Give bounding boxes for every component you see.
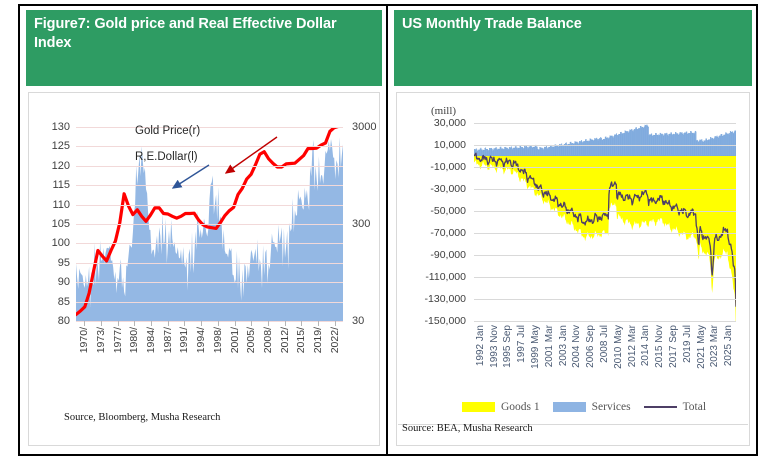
right-chart-x-tick: 1992 Jan xyxy=(475,325,486,366)
right-chart-x-tick: 2006 Sep xyxy=(585,325,596,368)
source-note-right: Source: BEA, Musha Research xyxy=(402,423,533,434)
left-chart-x-tick: 2005/ xyxy=(245,327,257,353)
panel-trade-balance: US Monthly Trade Balance (mill) 30,00010… xyxy=(388,6,756,454)
chart-container-right: (mill) 30,00010,000-10,000-30,000-50,000… xyxy=(396,92,750,446)
left-chart-y-axis-left: 13012512011511010510095908580 xyxy=(29,127,74,321)
source-note-left: Source, Bloomberg, Musha Research xyxy=(64,412,220,423)
right-chart-y-axis: 30,00010,000-10,000-30,000-50,000-70,000… xyxy=(397,123,471,321)
legend-swatch-goods xyxy=(462,402,495,412)
right-chart-y-tick: -10,000 xyxy=(430,161,466,173)
left-chart-x-tick: 2022/ xyxy=(329,327,341,353)
left-chart-x-tick: 1994/ xyxy=(195,327,207,353)
right-chart-x-tick: 1999 May xyxy=(530,325,541,369)
right-chart-x-tick: 2010 May xyxy=(613,325,624,369)
right-chart-x-tick: 1995 Sep xyxy=(502,325,513,368)
left-chart-y-tick: 100 xyxy=(52,237,70,249)
right-chart-x-tick: 2015 Nov xyxy=(654,325,665,368)
left-chart-x-tick: 1980/ xyxy=(128,327,140,353)
left-chart-y-tick: 110 xyxy=(52,199,70,211)
right-chart-x-labels: 1992 Jan1993 Nov1995 Sep1997 Jul1999 May… xyxy=(474,325,736,395)
right-chart-x-tick: 2014 Jan xyxy=(640,325,651,366)
left-chart-x-ticks xyxy=(76,321,343,326)
annotation-re-dollar: R,E.Dollar(l) xyxy=(135,151,198,163)
right-chart-x-tick: 2023 Mar xyxy=(709,325,720,367)
right-chart-x-tick: 1993 Nov xyxy=(489,325,500,368)
left-chart-x-tick: 1977/ xyxy=(112,327,124,353)
left-chart-y-tick-right: 30 xyxy=(352,315,364,327)
right-chart-x-tick: 1997 Jul xyxy=(516,325,527,363)
right-chart-x-tick: 2008 Jul xyxy=(599,325,610,363)
right-chart-legend: Goods 1 Services Total xyxy=(425,398,743,415)
left-chart-y-tick: 85 xyxy=(58,296,70,308)
figure-frame: Figure7: Gold price and Real Effective D… xyxy=(18,4,758,456)
right-chart-y-tick: -50,000 xyxy=(430,205,466,217)
left-chart-gridlines xyxy=(76,127,343,321)
right-chart-plot-area xyxy=(474,123,736,321)
left-chart-x-tick: 1987/ xyxy=(162,327,174,353)
left-chart-x-tick: 2001/ xyxy=(229,327,241,353)
left-chart-y-tick: 130 xyxy=(52,121,70,133)
right-chart-y-tick: 30,000 xyxy=(434,117,466,129)
left-chart-y-tick: 120 xyxy=(52,160,70,172)
left-chart-x-tick: 1998/ xyxy=(212,327,224,353)
right-chart-x-tick: 2003 Jan xyxy=(558,325,569,366)
left-chart-y-tick-right: 300 xyxy=(352,218,370,230)
legend-label-total: Total xyxy=(683,401,706,413)
panel-title-right: US Monthly Trade Balance xyxy=(402,15,746,34)
left-chart-y-tick: 90 xyxy=(58,276,70,288)
right-chart-y-tick: -70,000 xyxy=(430,227,466,239)
left-chart-x-tick: 1973/ xyxy=(95,327,107,353)
left-chart-y-tick: 95 xyxy=(58,257,70,269)
right-chart-x-tick: 2019 Jul xyxy=(682,325,693,363)
left-chart-x-tick: 2015/ xyxy=(295,327,307,353)
left-chart-x-tick: 1970/ xyxy=(78,327,90,353)
left-chart-x-tick: 2012/ xyxy=(279,327,291,353)
right-chart-gridlines xyxy=(474,123,736,321)
right-chart-y-tick: 10,000 xyxy=(434,139,466,151)
legend-swatch-services xyxy=(553,402,586,412)
right-chart-x-tick: 2017 Sep xyxy=(668,325,679,368)
right-chart-y-tick: -110,000 xyxy=(425,271,466,283)
left-chart-y-tick: 80 xyxy=(58,315,70,327)
left-chart-y-tick: 105 xyxy=(52,218,70,230)
legend-item-services: Services xyxy=(553,401,631,413)
right-chart-y-tick: -150,000 xyxy=(425,315,466,327)
left-chart-x-tick: 1991/ xyxy=(178,327,190,353)
left-chart-plot-area xyxy=(76,127,343,321)
panel-gold-dollar: Figure7: Gold price and Real Effective D… xyxy=(20,6,388,454)
legend-item-goods: Goods 1 xyxy=(462,401,540,413)
legend-label-services: Services xyxy=(592,401,631,413)
legend-swatch-total xyxy=(644,406,677,408)
right-chart-y-tick: -30,000 xyxy=(430,183,466,195)
annotation-gold-price: Gold Price(r) xyxy=(135,125,200,137)
right-chart-x-tick: 2021 May xyxy=(696,325,707,369)
panel-header-left: Figure7: Gold price and Real Effective D… xyxy=(26,10,382,86)
right-chart-x-tick: 2004 Nov xyxy=(571,325,582,368)
right-chart-x-tick: 2012 Mar xyxy=(627,325,638,367)
panel-header-right: US Monthly Trade Balance xyxy=(394,10,752,86)
right-chart-x-tick: 2001 Mar xyxy=(544,325,555,367)
legend-item-total: Total xyxy=(644,401,706,413)
left-chart-x-tick: 2019/ xyxy=(312,327,324,353)
right-chart-unit-label: (mill) xyxy=(431,105,456,117)
right-chart-y-tick: -90,000 xyxy=(430,249,466,261)
left-chart-x-labels: 1970/1973/1977/1980/1984/1987/1991/1994/… xyxy=(76,327,343,373)
left-chart-y-tick: 115 xyxy=(52,179,70,191)
left-chart-y-tick: 125 xyxy=(52,140,70,152)
panel-title-left: Figure7: Gold price and Real Effective D… xyxy=(34,15,376,53)
left-chart-x-tick: 2008/ xyxy=(262,327,274,353)
left-chart-y-tick-right: 3000 xyxy=(352,121,376,133)
figure-sheet: Figure7: Gold price and Real Effective D… xyxy=(0,0,776,464)
left-chart-x-tick: 1984/ xyxy=(145,327,157,353)
right-chart-y-tick: -130,000 xyxy=(425,293,466,305)
right-chart-x-tick: 2025 Jan xyxy=(723,325,734,366)
left-chart-y-axis-right: 300030030 xyxy=(347,127,393,321)
legend-label-goods: Goods 1 xyxy=(501,401,540,413)
chart-container-left: 13012512011511010510095908580 300030030 … xyxy=(28,92,380,446)
